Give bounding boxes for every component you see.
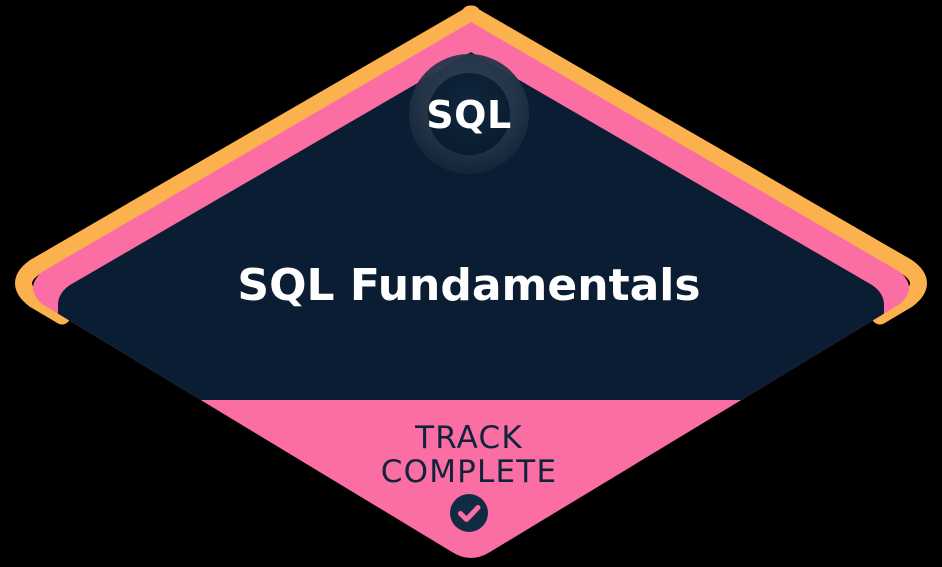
badge-graphic: SQL SQL Fundamentals TRACK COMPLETE — [0, 0, 942, 567]
track-badge[interactable]: SQL SQL Fundamentals TRACK COMPLETE — [0, 0, 942, 567]
status-label-line1: TRACK — [414, 420, 523, 456]
check-badge-circle — [450, 494, 488, 532]
page-title: SQL Fundamentals — [237, 260, 700, 311]
status-badge — [450, 494, 488, 532]
sql-abbrev-label: SQL — [426, 93, 511, 137]
status-label-line2: COMPLETE — [381, 454, 557, 490]
sql-ring-badge: SQL — [409, 54, 529, 174]
